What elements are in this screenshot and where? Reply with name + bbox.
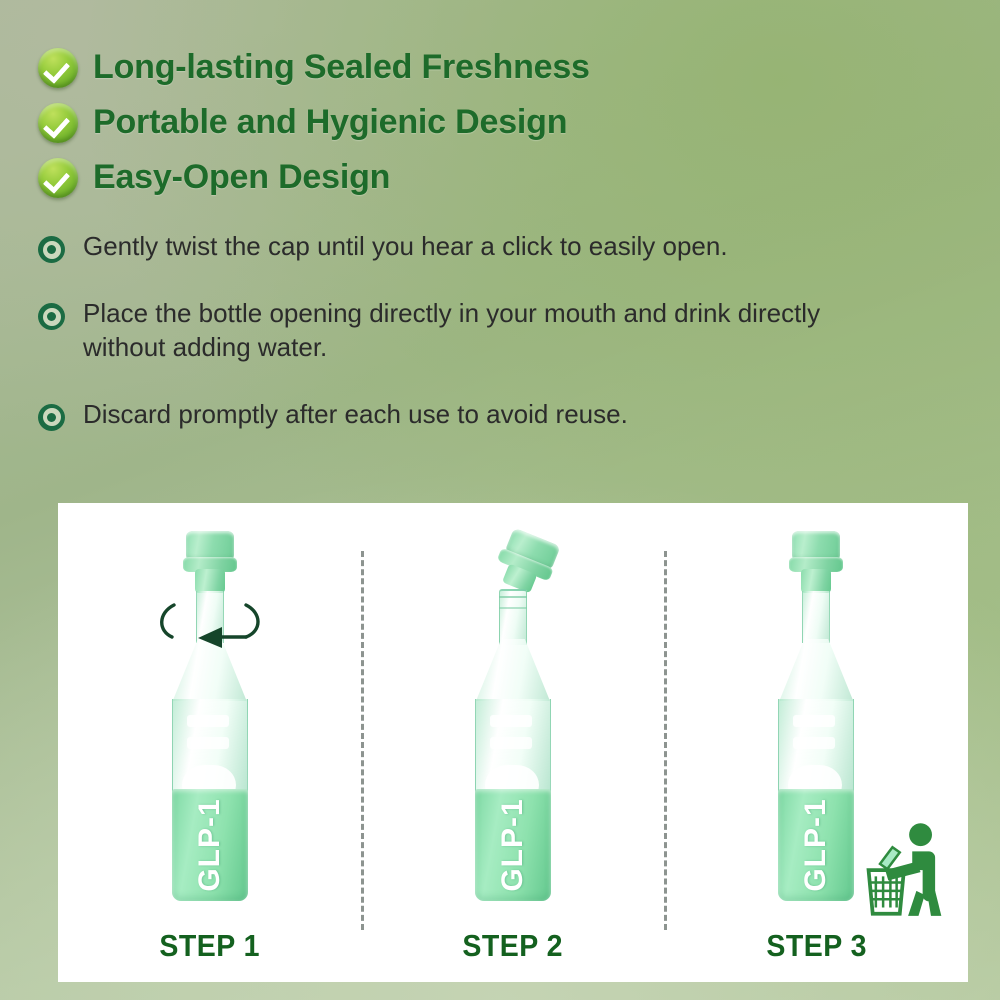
check-badge-icon xyxy=(38,48,78,88)
check-badge-icon xyxy=(38,103,78,143)
infographic-poster: Long-lasting Sealed Freshness Portable a… xyxy=(0,0,1000,1000)
feature-item: Long-lasting Sealed Freshness xyxy=(38,40,758,95)
bottle-brand-label: GLP-1 xyxy=(799,798,833,891)
feature-item: Easy-Open Design xyxy=(38,150,758,205)
dispose-trash-icon xyxy=(854,816,958,920)
step-label: STEP 2 xyxy=(373,928,652,964)
bottle-neck xyxy=(802,591,830,643)
ring-bullet-icon xyxy=(38,303,65,330)
bottle-body xyxy=(475,699,551,799)
open-bottle-neck xyxy=(499,589,527,645)
step-column-1: GLP-1 STEP 1 xyxy=(58,503,361,982)
feature-label: Easy-Open Design xyxy=(93,158,390,197)
bottle-base: GLP-1 xyxy=(778,789,854,901)
bottle-cap-icon xyxy=(789,531,843,593)
feature-list: Long-lasting Sealed Freshness Portable a… xyxy=(38,40,758,205)
bottle-body xyxy=(778,699,854,799)
feature-label: Portable and Hygienic Design xyxy=(93,103,567,142)
bottle-base: GLP-1 xyxy=(172,789,248,901)
bottle-brand-label: GLP-1 xyxy=(193,798,227,891)
feature-label: Long-lasting Sealed Freshness xyxy=(93,48,590,87)
instruction-item: Gently twist the cap until you hear a cl… xyxy=(38,230,838,263)
steps-panel: GLP-1 STEP 1 xyxy=(58,503,968,982)
feature-item: Portable and Hygienic Design xyxy=(38,95,758,150)
bottle-illustration-step2: GLP-1 xyxy=(461,531,565,901)
bottle-body xyxy=(172,699,248,799)
step-label: STEP 3 xyxy=(677,928,956,964)
instruction-text: Gently twist the cap until you hear a cl… xyxy=(83,230,728,263)
check-badge-icon xyxy=(38,158,78,198)
instruction-text: Place the bottle opening directly in you… xyxy=(83,297,823,364)
instruction-item: Place the bottle opening directly in you… xyxy=(38,297,838,364)
instruction-item: Discard promptly after each use to avoid… xyxy=(38,398,838,431)
bottle-base: GLP-1 xyxy=(475,789,551,901)
bottle-illustration-step3: GLP-1 xyxy=(764,531,868,901)
bottle-shoulder xyxy=(476,639,550,701)
instruction-text: Discard promptly after each use to avoid… xyxy=(83,398,628,431)
step-column-3: GLP-1 STEP 3 xyxy=(665,503,968,982)
twist-arrow-icon xyxy=(150,591,270,651)
bottle-shoulder xyxy=(779,639,853,701)
step-column-2: GLP-1 STEP 2 xyxy=(361,503,664,982)
bottle-cap-icon xyxy=(183,531,237,593)
bottle-brand-label: GLP-1 xyxy=(496,798,530,891)
ring-bullet-icon xyxy=(38,404,65,431)
ring-bullet-icon xyxy=(38,236,65,263)
bottle-illustration-step1: GLP-1 xyxy=(158,531,262,901)
step-label: STEP 1 xyxy=(70,928,349,964)
instruction-list: Gently twist the cap until you hear a cl… xyxy=(38,230,838,465)
